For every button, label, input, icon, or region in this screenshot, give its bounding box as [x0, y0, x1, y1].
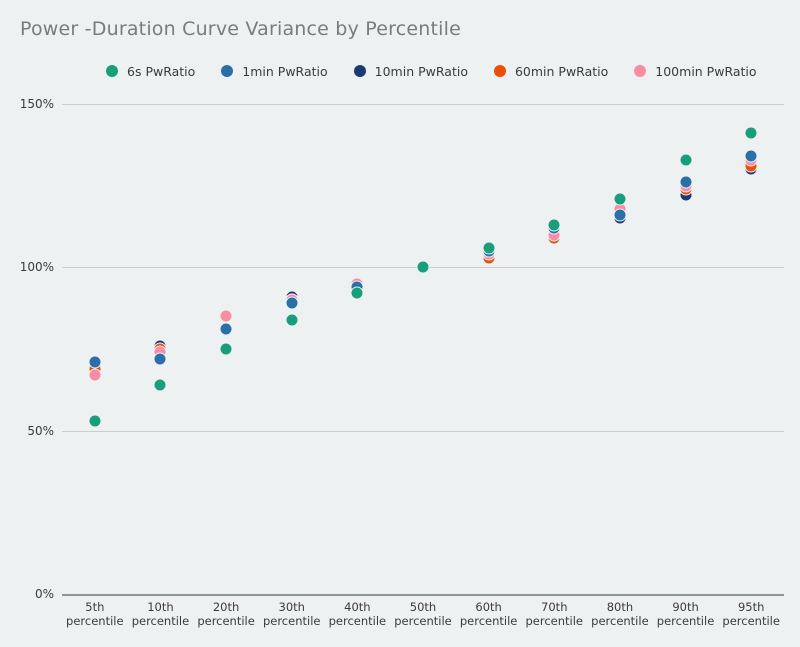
- gridline-150%: [62, 104, 784, 105]
- data-point[interactable]: [88, 356, 101, 369]
- x-axis-line: [62, 594, 784, 596]
- data-point[interactable]: [220, 343, 233, 356]
- ytick-label-100%: 100%: [0, 260, 54, 274]
- ytick-label-150%: 150%: [0, 97, 54, 111]
- data-point[interactable]: [351, 287, 364, 300]
- data-point[interactable]: [482, 241, 495, 254]
- data-point[interactable]: [285, 313, 298, 326]
- data-point[interactable]: [220, 310, 233, 323]
- data-point[interactable]: [88, 414, 101, 427]
- xtick-line2: percentile: [706, 614, 796, 628]
- data-point[interactable]: [548, 218, 561, 231]
- data-point[interactable]: [745, 150, 758, 163]
- data-point[interactable]: [154, 378, 167, 391]
- gridline-50%: [62, 431, 784, 432]
- xtick-line1: 95th: [706, 600, 796, 614]
- plot-area: 0%50%100%150%5thpercentile10thpercentile…: [0, 0, 800, 647]
- data-point[interactable]: [679, 176, 692, 189]
- data-point[interactable]: [285, 297, 298, 310]
- data-point[interactable]: [613, 192, 626, 205]
- ytick-label-0%: 0%: [0, 587, 54, 601]
- data-point[interactable]: [88, 369, 101, 382]
- xtick-label-95th: 95thpercentile: [706, 600, 796, 628]
- ytick-label-50%: 50%: [0, 424, 54, 438]
- data-point[interactable]: [745, 127, 758, 140]
- data-point[interactable]: [220, 323, 233, 336]
- data-point[interactable]: [613, 209, 626, 222]
- data-point[interactable]: [679, 153, 692, 166]
- data-point[interactable]: [417, 261, 430, 274]
- data-point[interactable]: [154, 352, 167, 365]
- chart-container: Power -Duration Curve Variance by Percen…: [0, 0, 800, 647]
